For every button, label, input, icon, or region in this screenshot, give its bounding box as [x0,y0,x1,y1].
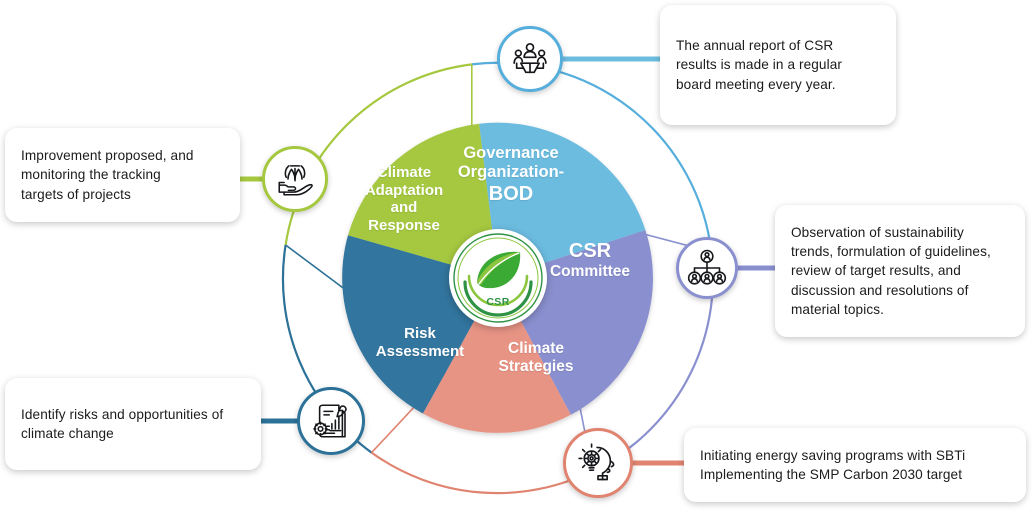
callout-bod-text: The annual report of CSR results is made… [676,36,842,94]
org-chart-hierarchy-icon [687,248,727,288]
badge-boardroom-meeting[interactable] [497,26,563,92]
callout-climate-strategies: Initiating energy saving programs with S… [684,428,1026,502]
callout-risk-assessment: Identify risks and opportunities of clim… [5,378,261,470]
report-chart-gear-icon [310,400,352,442]
hand-holding-plant-icon [274,158,316,200]
badge-report-analysis[interactable] [297,387,365,455]
center-csr-logo: CSR [449,229,547,327]
badge-head-idea[interactable] [563,428,633,498]
callout-csr-text: Observation of sustainability trends, fo… [791,223,991,319]
callout-adapt-text: Improvement proposed, and monitoring the… [21,146,194,204]
boardroom-meeting-icon [510,39,550,79]
callout-climate-adaptation: Improvement proposed, and monitoring the… [5,128,240,222]
badge-hand-plant[interactable] [262,146,328,212]
head-lightbulb-gear-icon [576,441,620,485]
outer-arc-climate [372,453,593,494]
badge-org-chart[interactable] [676,237,738,299]
callout-bod: The annual report of CSR results is made… [660,5,896,125]
callout-climate-text: Initiating energy saving programs with S… [700,446,965,485]
diagram-canvas: Governance Organization- BOD CSR Committ… [0,0,1032,517]
callout-risk-text: Identify risks and opportunities of clim… [21,405,223,444]
callout-csr-committee: Observation of sustainability trends, fo… [775,205,1025,337]
green-leaf-logo-icon [452,232,544,324]
center-logo-label: CSR [449,296,547,308]
spoke-5 [286,245,344,289]
